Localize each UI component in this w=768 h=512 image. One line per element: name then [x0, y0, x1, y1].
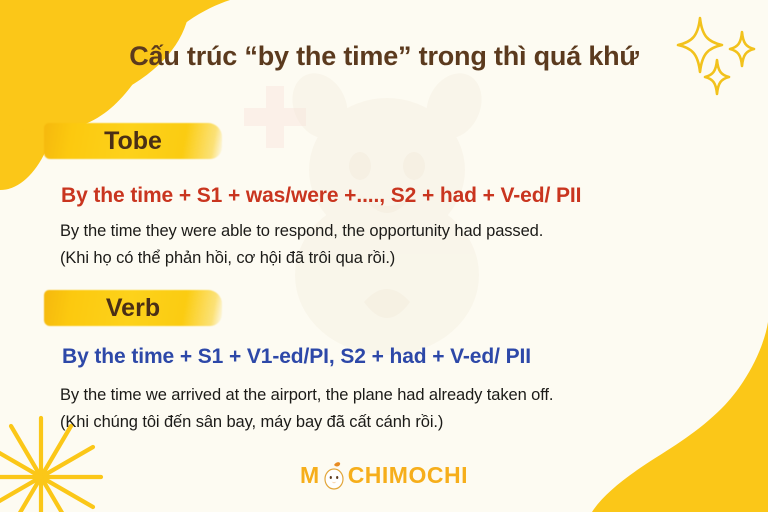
formula-verb: By the time + S1 + V1-ed/PI, S2 + had + … — [62, 345, 531, 369]
poster-canvas: Cấu trúc “by the time” trong thì quá khứ… — [0, 0, 768, 512]
example-verb-vietnamese: (Khi chúng tôi đến sân bay, máy bay đã c… — [60, 413, 443, 432]
logo-text-after: CHIMOCHI — [348, 464, 468, 487]
brand-logo: M CHIMOCHI — [0, 460, 768, 490]
section-label-verb: Verb — [44, 290, 222, 326]
formula-tobe: By the time + S1 + was/were +...., S2 + … — [61, 184, 581, 208]
example-tobe-vietnamese: (Khi họ có thể phản hồi, cơ hội đã trôi … — [60, 249, 395, 268]
section-label-tobe: Tobe — [44, 123, 222, 159]
page-title: Cấu trúc “by the time” trong thì quá khứ — [0, 41, 768, 72]
poster-content: Cấu trúc “by the time” trong thì quá khứ… — [0, 0, 768, 512]
logo-text-before: M — [300, 464, 320, 487]
mochi-mascot-icon — [321, 461, 347, 491]
example-tobe-english: By the time they were able to respond, t… — [60, 222, 543, 241]
section-label-tobe-text: Tobe — [104, 127, 162, 156]
section-label-verb-text: Verb — [106, 294, 160, 323]
example-verb-english: By the time we arrived at the airport, t… — [60, 386, 553, 405]
